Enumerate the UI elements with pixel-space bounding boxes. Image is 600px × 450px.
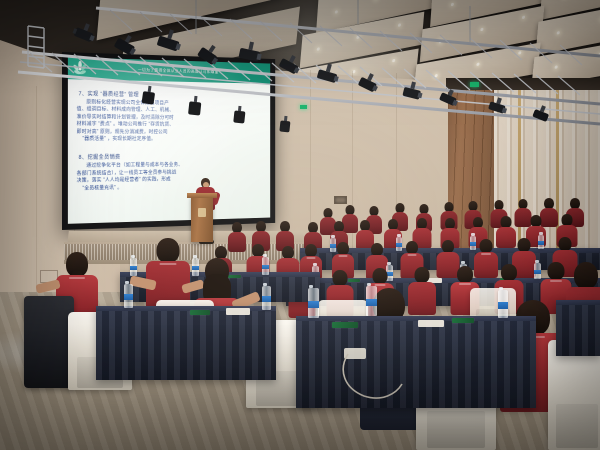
slide-spacer (77, 143, 263, 150)
stage-light-fixture (72, 20, 552, 133)
polo-collar (69, 277, 85, 279)
mobile-phone (190, 310, 210, 315)
notepad (418, 320, 444, 327)
water-bottle (498, 290, 508, 318)
polo-collar (160, 263, 177, 265)
podium-emblem (198, 208, 206, 217)
podium-top-surface (187, 193, 217, 198)
mobile-phone (452, 318, 474, 323)
draped-stand (24, 296, 74, 388)
head (157, 238, 180, 263)
wall-speaker-vent (334, 196, 347, 204)
lighting-truss (0, 0, 600, 140)
table-skirt (96, 311, 276, 380)
head (574, 262, 598, 289)
notepad (226, 308, 250, 315)
slide-heading-2: 8、挖掘全员销费 (79, 153, 263, 162)
conference-table (556, 300, 600, 356)
water-bottle (130, 258, 137, 276)
water-bottle (538, 235, 544, 249)
water-bottle (262, 257, 269, 275)
wooden-podium (191, 196, 213, 242)
conference-table (96, 306, 276, 380)
mobile-phone (332, 322, 358, 328)
conference-hall-photo: 一切为了赢得全体从业人员的高度认可和尊重 7、实现 “器质经营” 管理 原则标化… (0, 0, 600, 450)
charging-cable (330, 344, 410, 404)
water-bottle (366, 286, 377, 316)
water-bottle (262, 286, 271, 310)
chair-cover (548, 340, 600, 450)
water-bottle (124, 284, 133, 308)
table-skirt (556, 305, 600, 356)
water-bottle (308, 288, 319, 318)
